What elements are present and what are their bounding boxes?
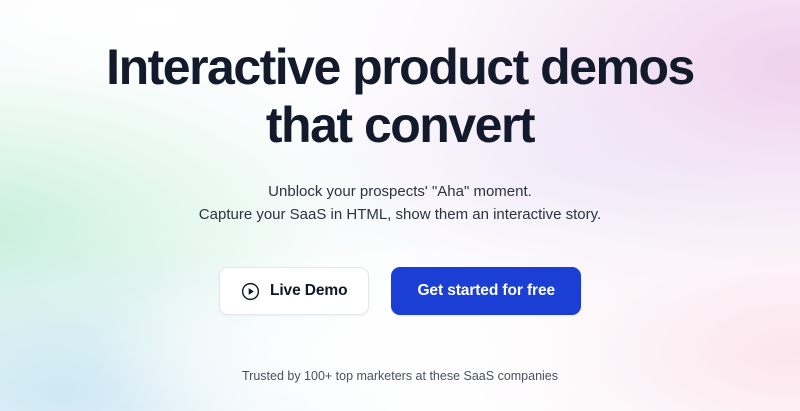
headline-line-1: Interactive product demos <box>106 38 694 96</box>
play-circle-icon <box>241 282 260 301</box>
page-title: Interactive product demos that convert <box>106 0 694 154</box>
subtitle-line-1: Unblock your prospects' "Aha" moment. <box>199 180 601 203</box>
subtitle-line-2: Capture your SaaS in HTML, show them an … <box>199 203 601 226</box>
hero-subtitle: Unblock your prospects' "Aha" moment. Ca… <box>199 154 601 226</box>
hero-section: Interactive product demos that convert U… <box>0 0 800 411</box>
hero-content: Interactive product demos that convert U… <box>0 0 800 411</box>
cta-button-row: Live Demo Get started for free <box>219 267 581 315</box>
headline-line-2: that convert <box>106 96 694 154</box>
trust-line: Trusted by 100+ top marketers at these S… <box>242 315 558 385</box>
live-demo-button[interactable]: Live Demo <box>219 267 370 315</box>
live-demo-button-label: Live Demo <box>270 283 348 299</box>
get-started-button[interactable]: Get started for free <box>391 267 581 315</box>
